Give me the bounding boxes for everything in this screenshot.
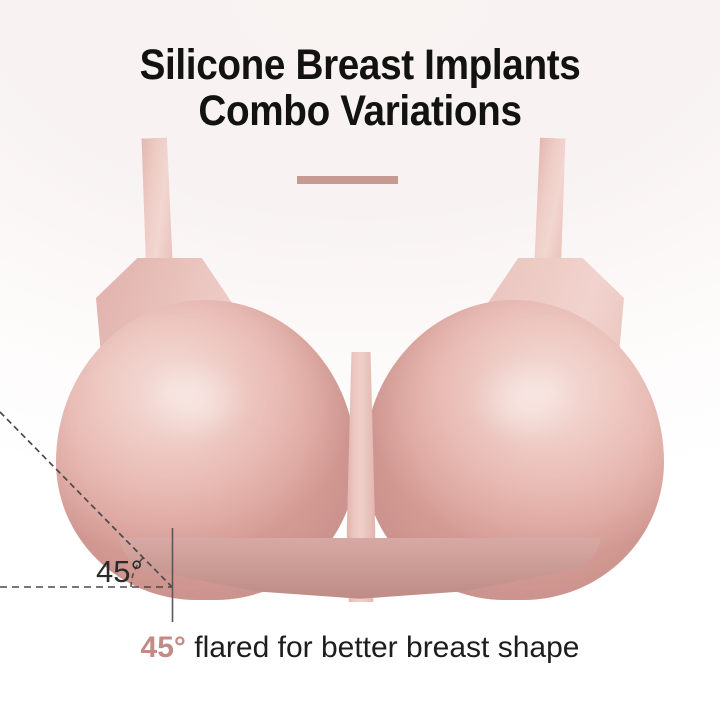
page-title-line-1: Silicone Breast Implants bbox=[140, 41, 581, 89]
product-marketing-image: 45° Silicone Breast Implants Combo Varia… bbox=[0, 0, 720, 720]
page-title-line-2: Combo Variations bbox=[36, 88, 684, 134]
divider-bar bbox=[297, 176, 398, 184]
caption-description: flared for better breast shape bbox=[194, 631, 579, 664]
angle-value-label: 45° bbox=[96, 556, 143, 587]
angle-flare-line-dashed bbox=[0, 412, 173, 588]
feature-caption: 45° flared for better breast shape bbox=[0, 630, 720, 666]
page-title: Silicone Breast Implants Combo Variation… bbox=[36, 42, 684, 134]
caption-degree-value: 45° bbox=[141, 631, 186, 664]
